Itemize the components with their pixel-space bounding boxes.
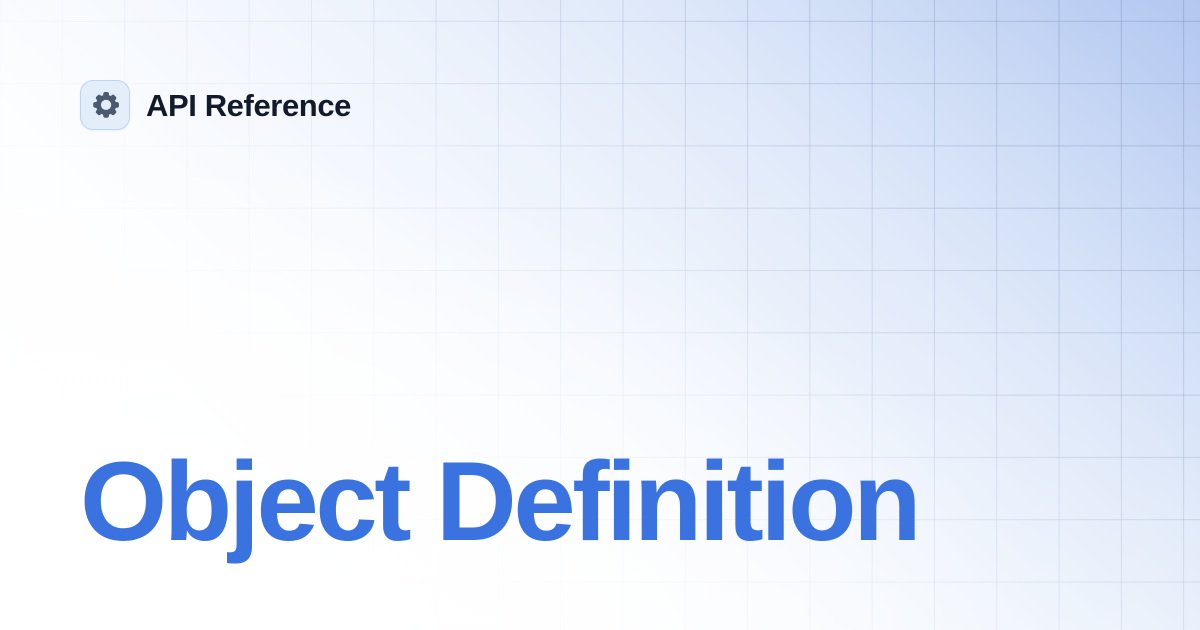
- page-title: Object Definition: [80, 443, 918, 562]
- og-card: API Reference Object Definition: [0, 0, 1200, 630]
- gear-icon: [91, 91, 119, 119]
- card-content: API Reference Object Definition: [0, 0, 1200, 630]
- eyebrow: API Reference: [80, 80, 351, 130]
- eyebrow-label: API Reference: [146, 90, 351, 121]
- api-reference-badge: [80, 80, 130, 130]
